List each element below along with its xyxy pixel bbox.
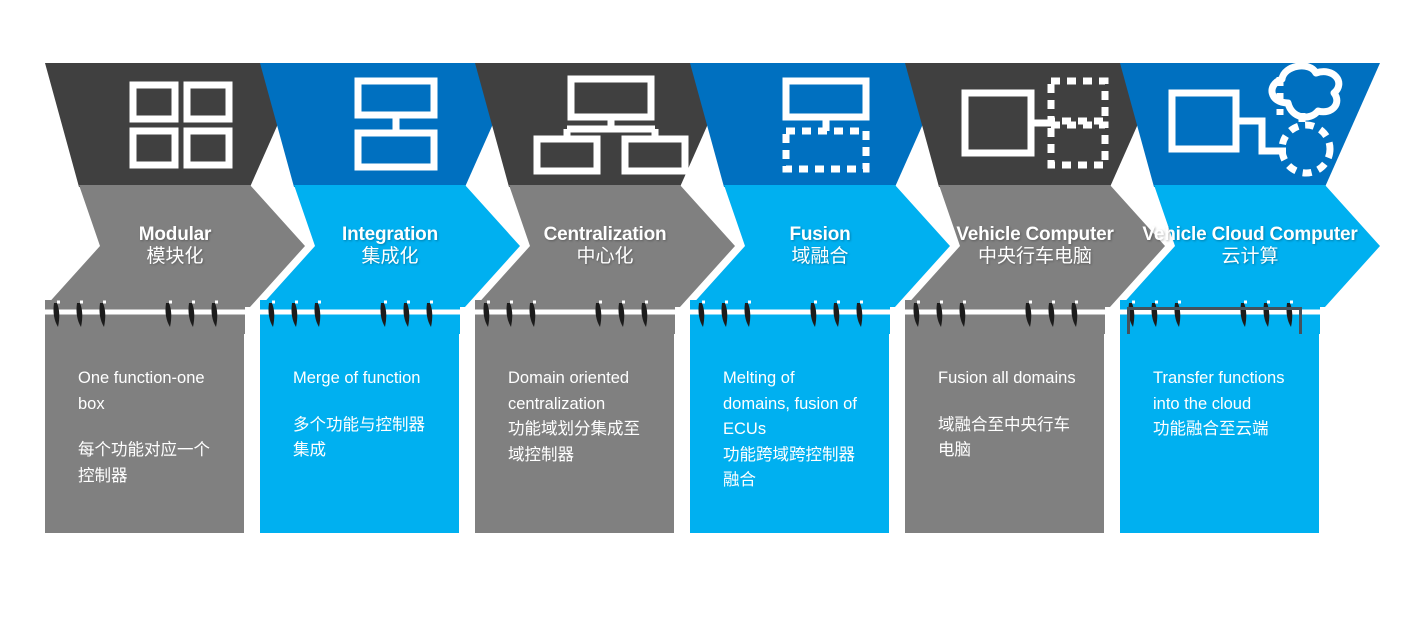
spiral-binding-1[interactable] <box>45 300 245 334</box>
spiral-binding-4[interactable] <box>690 300 890 334</box>
stage-body-en-1: One function-one box <box>78 366 220 417</box>
stage-body-cn-3: 功能域划分集成至域控制器 <box>508 417 650 468</box>
stage-body-en-5: Fusion all domains <box>938 366 1080 392</box>
spiral-binding-2[interactable] <box>260 300 460 334</box>
spiral-binding-3[interactable] <box>475 300 675 334</box>
stage-body-card-5: Fusion all domains域融合至中央行车电脑 <box>905 334 1104 533</box>
stage-body-cn-1: 每个功能对应一个控制器 <box>78 438 220 489</box>
ee-architecture-evolution-diagram: Modular模块化 One function-one box每个功能对应一个控… <box>0 0 1417 618</box>
stage-icon-header-6 <box>1120 63 1380 187</box>
stage-body-card-4: Melting of domains, fusion of ECUs功能跨域跨控… <box>690 334 889 533</box>
stage-body-en-4: Melting of domains, fusion of ECUs <box>723 366 865 443</box>
stage-body-cn-4: 功能跨域跨控制器融合 <box>723 443 865 494</box>
spiral-binding-5[interactable] <box>905 300 1105 334</box>
stage-body-en-3: Domain oriented centralization <box>508 366 650 417</box>
stage-panel-6[interactable]: Vehicle Cloud Computer云计算 Transfer funct… <box>1120 0 1380 618</box>
stage-body-en-2: Merge of function <box>293 366 435 392</box>
stage-title-band-6: Vehicle Cloud Computer云计算 <box>1120 185 1380 307</box>
stage-body-card-2: Merge of function多个功能与控制器集成 <box>260 334 459 533</box>
stage-body-cn-5: 域融合至中央行车电脑 <box>938 413 1080 464</box>
stage-body-card-1: One function-one box每个功能对应一个控制器 <box>45 334 244 533</box>
stage-body-en-6: Transfer functions into the cloud <box>1153 366 1295 417</box>
stage-body-card-6: Transfer functions into the cloud功能融合至云端 <box>1120 334 1319 533</box>
stage-body-cn-2: 多个功能与控制器集成 <box>293 413 435 464</box>
stage-body-cn-6: 功能融合至云端 <box>1153 417 1295 443</box>
stage-body-card-3: Domain oriented centralization功能域划分集成至域控… <box>475 334 674 533</box>
